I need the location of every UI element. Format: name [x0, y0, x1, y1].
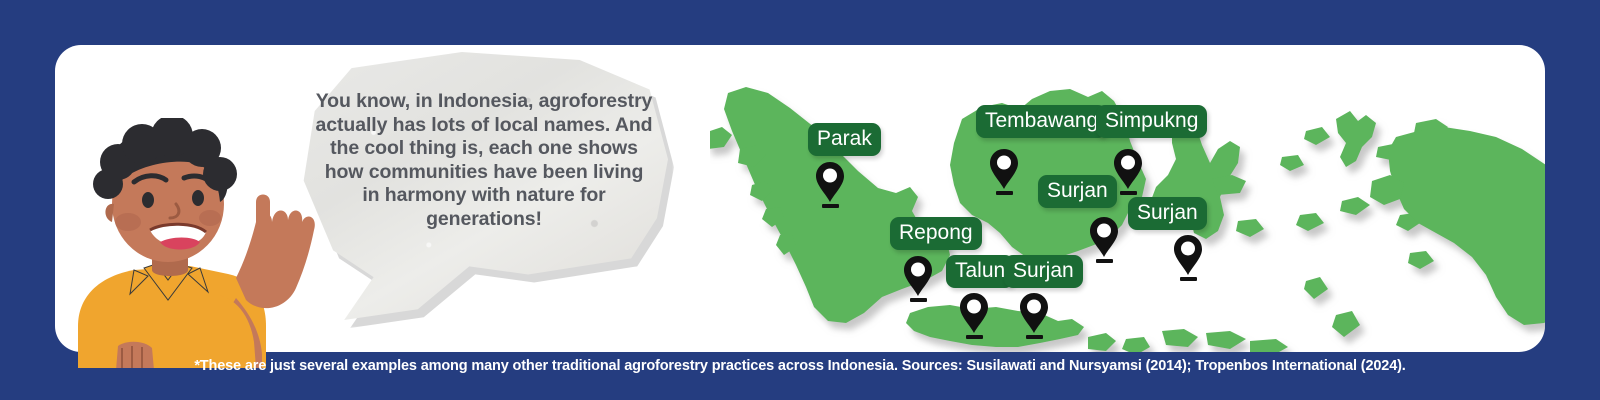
map-label-badge[interactable]: Tembawang: [976, 105, 1107, 138]
speech-bubble-text: You know, in Indonesia, agroforestry act…: [314, 90, 654, 231]
map-label-badge[interactable]: Repong: [890, 217, 982, 250]
eye-right: [192, 190, 204, 206]
map-label-badge[interactable]: Parak: [808, 123, 881, 156]
blush-left: [115, 213, 141, 231]
eye-left: [142, 192, 154, 208]
map-pin-marker[interactable]: [902, 254, 934, 298]
map-pin-marker[interactable]: [1172, 233, 1204, 277]
ear: [105, 204, 114, 222]
speech-bubble: You know, in Indonesia, agroforestry act…: [300, 52, 680, 352]
map-pin-marker[interactable]: [1018, 291, 1050, 335]
footnote-text: *These are just several examples among m…: [0, 356, 1600, 376]
finger: [256, 195, 270, 223]
map-pin-marker[interactable]: [814, 160, 846, 204]
map-pin-marker[interactable]: [988, 147, 1020, 191]
map-label-badge[interactable]: Surjan: [1038, 175, 1117, 208]
map-label-badge[interactable]: Surjan: [1128, 197, 1207, 230]
hair-curl: [93, 169, 123, 199]
blush-right: [199, 210, 221, 226]
indonesia-map: Parak Repong Talun Surjan Tembawang Simp…: [710, 75, 1545, 352]
map-pin-marker[interactable]: [958, 291, 990, 335]
character-illustration: [60, 118, 330, 368]
map-label-badge[interactable]: Simpukng: [1096, 105, 1207, 138]
map-label-badge[interactable]: Surjan: [1004, 255, 1083, 288]
waving-hand: [236, 210, 315, 308]
map-pin-marker[interactable]: [1112, 147, 1144, 191]
character-svg: [60, 118, 330, 368]
map-pin-marker[interactable]: [1088, 215, 1120, 259]
hair-curl: [203, 157, 237, 191]
